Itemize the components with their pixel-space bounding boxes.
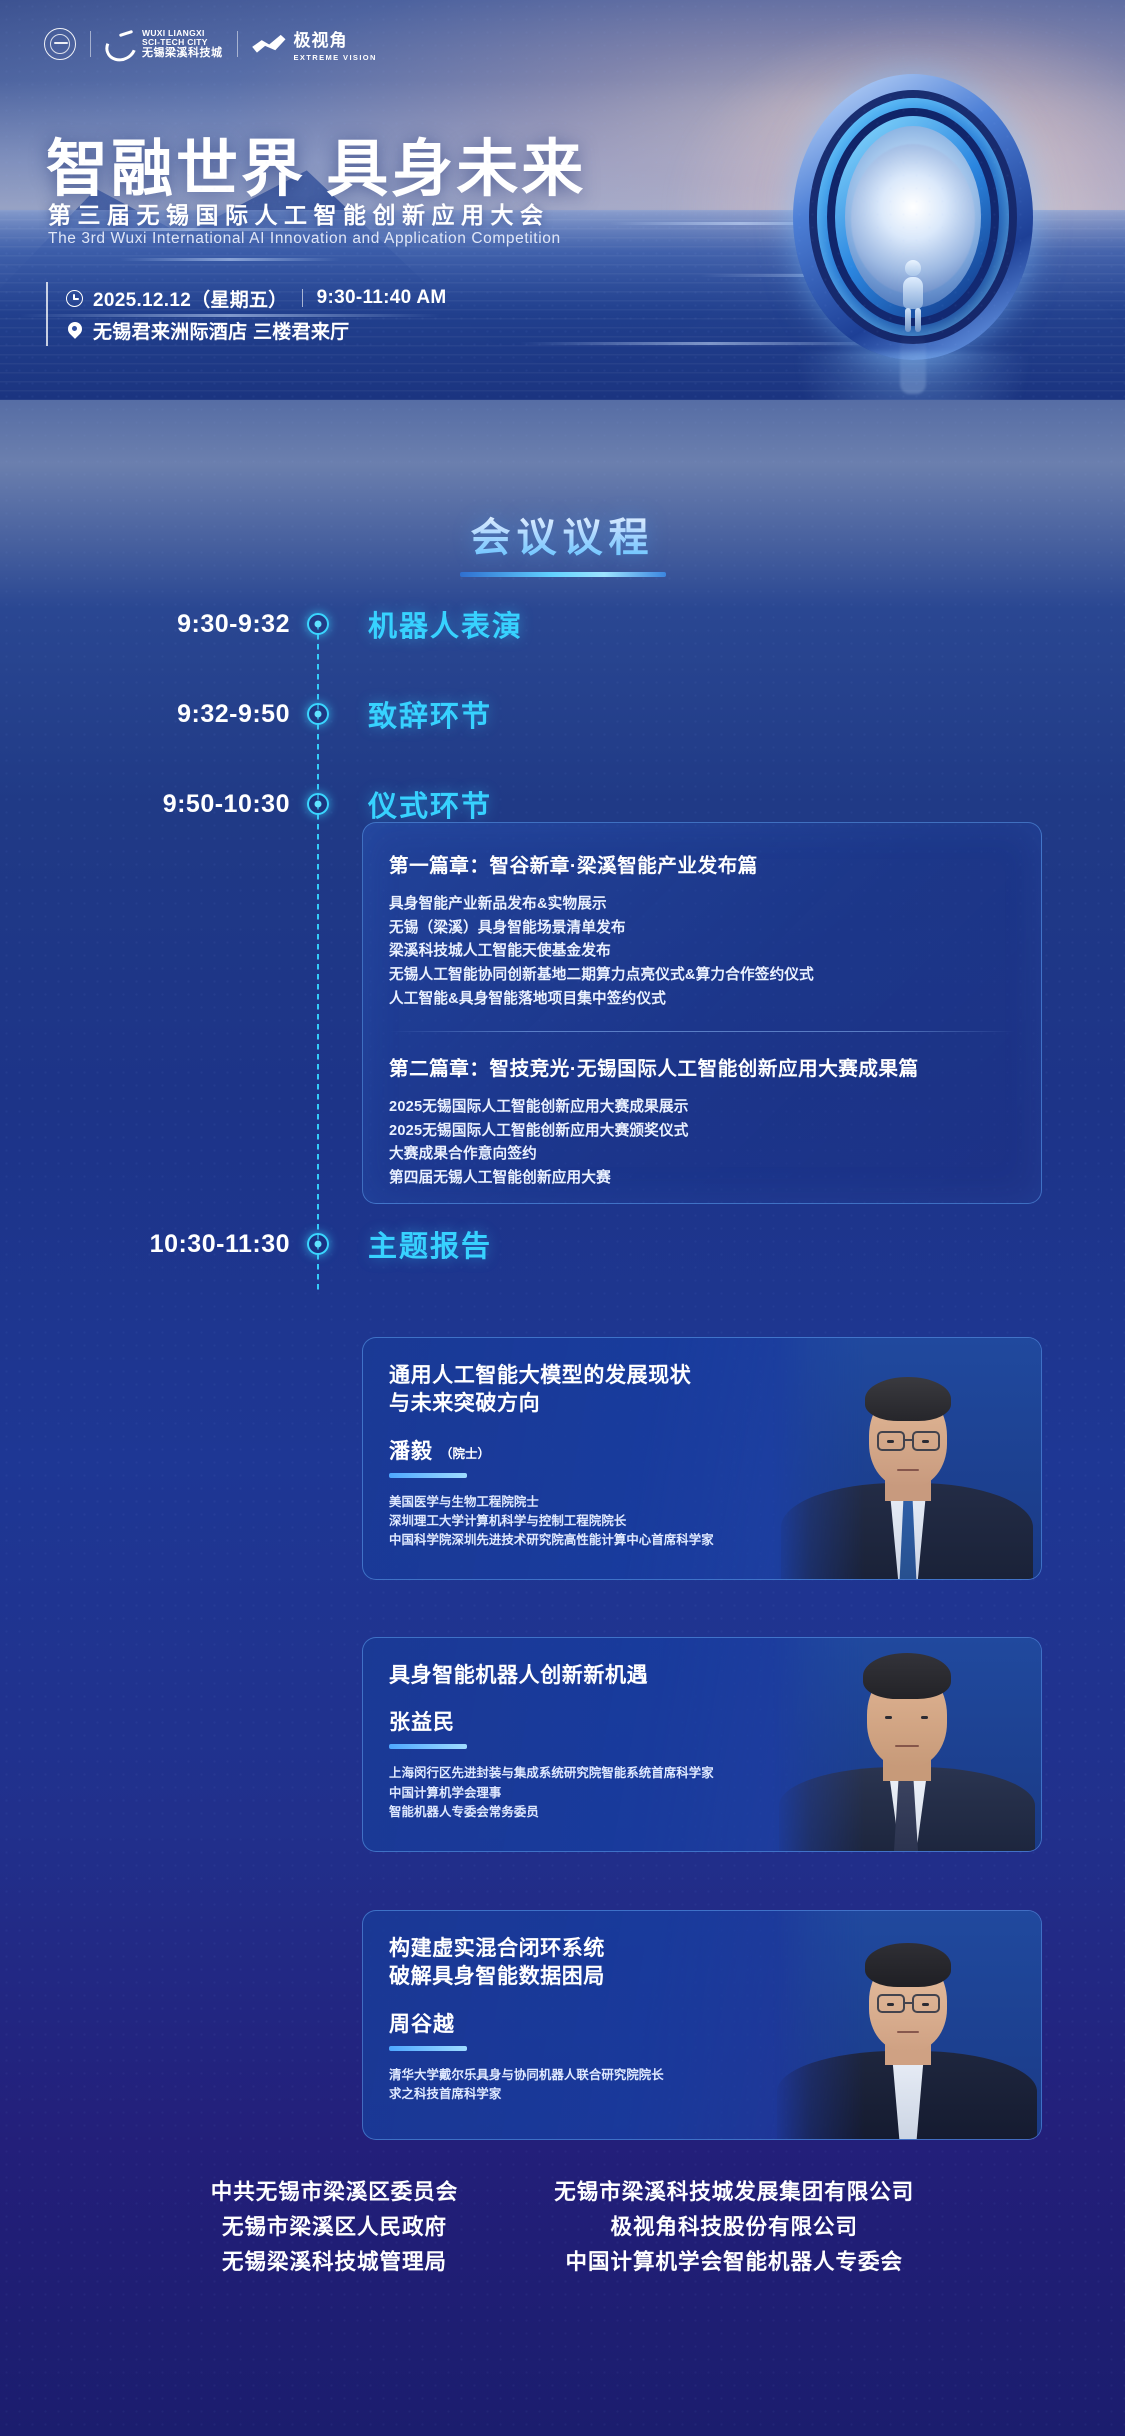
list-item: 无锡（梁溪）具身智能场景清单发布: [389, 917, 1015, 941]
extreme-vision-logo: 极视角 EXTREME VISION: [252, 26, 377, 62]
talk-title-2: 具身智能机器人创新新机遇: [389, 1662, 1015, 1690]
talk-card-1: 通用人工智能大模型的发展现状 与未来突破方向 潘毅（院士） 美国医学与生物工程院…: [362, 1337, 1042, 1580]
list-item: 无锡市梁溪科技城发展集团有限公司: [554, 2175, 914, 2210]
event-meta: 2025.12.12（星期五） 9:30-11:40 AM 无锡君来洲际酒店 三…: [46, 282, 447, 346]
clock-icon: [66, 290, 83, 307]
list-item: 2025无锡国际人工智能创新应用大赛成果展示: [389, 1096, 1015, 1120]
speaker-name-underline-1: [389, 1473, 467, 1478]
list-item: 2025无锡国际人工智能创新应用大赛颁奖仪式: [389, 1120, 1015, 1144]
hero-banner: WUXI LIANGXI SCI-TECH CITY 无锡梁溪科技城 极视角 E…: [0, 0, 1125, 400]
list-item: 深圳理工大学计算机科学与控制工程院院长: [389, 1512, 1015, 1531]
organizer-column-right: 无锡市梁溪科技城发展集团有限公司 极视角科技股份有限公司 中国计算机学会智能机器…: [554, 2175, 914, 2279]
timeline-row-3: 9:50-10:30 仪式环节: [0, 780, 1125, 828]
talk-speaker-2: 张益民: [389, 1706, 1015, 1736]
event-venue: 无锡君来洲际酒店 三楼君来厅: [93, 317, 349, 344]
chapter-2-list: 2025无锡国际人工智能创新应用大赛成果展示 2025无锡国际人工智能创新应用大…: [389, 1096, 1015, 1191]
talk-card-2: 具身智能机器人创新新机遇 张益民 上海闵行区先进封装与集成系统研究院智能系统首席…: [362, 1637, 1042, 1852]
speaker-name-3: 周谷越: [389, 2013, 455, 2036]
talk-body-1: 通用人工智能大模型的发展现状 与未来突破方向 潘毅（院士） 美国医学与生物工程院…: [363, 1338, 1041, 1572]
timeline-time-3: 9:50-10:30: [0, 790, 290, 819]
timeline-row-keynote: 10:30-11:30 主题报告: [0, 1220, 1125, 1268]
logo-divider-2: [237, 31, 238, 57]
list-item: 清华大学戴尔乐具身与协同机器人联合研究院院长: [389, 2066, 1015, 2085]
swoosh-icon: [105, 31, 135, 57]
extreme-vision-cn: 极视角: [294, 26, 377, 51]
list-item: 求之科技首席科学家: [389, 2085, 1015, 2104]
agenda-title-block: 会议议程: [0, 505, 1125, 577]
list-item: 美国医学与生物工程院院士: [389, 1493, 1015, 1512]
list-item: 无锡梁溪科技城管理局: [211, 2245, 459, 2280]
speaker-suffix-1: （院士）: [440, 1447, 490, 1461]
logo-strip: WUXI LIANGXI SCI-TECH CITY 无锡梁溪科技城 极视角 E…: [44, 26, 377, 62]
footer-organizations: 中共无锡市梁溪区委员会 无锡市梁溪区人民政府 无锡梁溪科技城管理局 无锡市梁溪科…: [0, 2175, 1125, 2279]
timeline-row-1: 9:30-9:32 机器人表演: [0, 600, 1125, 648]
speaker-bio-3: 清华大学戴尔乐具身与协同机器人联合研究院院长 求之科技首席科学家: [389, 2066, 1015, 2104]
hero-subtitle-en: The 3rd Wuxi International AI Innovation…: [48, 230, 561, 248]
speaker-name-1: 潘毅: [389, 1440, 433, 1463]
conference-poster: WUXI LIANGXI SCI-TECH CITY 无锡梁溪科技城 极视角 E…: [0, 0, 1125, 2436]
humanoid-robot-icon: [900, 260, 926, 332]
logo-cn-name: 无锡梁溪科技城: [142, 48, 223, 60]
speaker-name-underline-3: [389, 2046, 467, 2051]
chapter-1-heading: 第一篇章：智谷新章·梁溪智能产业发布篇: [389, 849, 1015, 878]
organizer-column-left: 中共无锡市梁溪区委员会 无锡市梁溪区人民政府 无锡梁溪科技城管理局: [211, 2175, 459, 2279]
event-venue-row: 无锡君来洲际酒店 三楼君来厅: [66, 314, 447, 346]
list-item: 中国计算机学会智能机器人专委会: [554, 2245, 914, 2280]
list-item: 极视角科技股份有限公司: [554, 2210, 914, 2245]
list-item: 中国科学院深圳先进技术研究院高性能计算中心首席科学家: [389, 1531, 1015, 1550]
list-item: 大赛成果合作意向签约: [389, 1143, 1015, 1167]
meta-separator: [302, 289, 303, 307]
extreme-vision-en: EXTREME VISION: [294, 53, 377, 62]
event-time: 9:30-11:40 AM: [317, 287, 447, 309]
list-item: 智能机器人专委会常务委员: [389, 1803, 1015, 1822]
wuxi-scitech-city-logo: WUXI LIANGXI SCI-TECH CITY 无锡梁溪科技城: [105, 29, 223, 59]
list-item: 无锡人工智能协同创新基地二期算力点亮仪式&算力合作签约仪式: [389, 964, 1015, 988]
talk-speaker-1: 潘毅（院士）: [389, 1435, 1015, 1465]
speaker-bio-1: 美国医学与生物工程院院士 深圳理工大学计算机科学与控制工程院院长 中国科学院深圳…: [389, 1493, 1015, 1551]
hero-headline: 智融世界 具身未来: [46, 118, 586, 208]
timeline-node-icon-3: [307, 793, 329, 815]
speaker-bio-2: 上海闵行区先进封装与集成系统研究院智能系统首席科学家 中国计算机学会理事 智能机…: [389, 1764, 1015, 1822]
agenda-detail-panel: 第一篇章：智谷新章·梁溪智能产业发布篇 具身智能产业新品发布&实物展示 无锡（梁…: [362, 822, 1042, 1204]
location-pin-icon: [66, 322, 83, 339]
chapter-2-heading: 第二篇章：智技竞光·无锡国际人工智能创新应用大赛成果篇: [389, 1052, 1015, 1081]
timeline-node-icon-1: [307, 613, 329, 635]
timeline-label-2: 致辞环节: [368, 693, 492, 735]
list-item: 上海闵行区先进封装与集成系统研究院智能系统首席科学家: [389, 1764, 1015, 1783]
talk-body-2: 具身智能机器人创新新机遇 张益民 上海闵行区先进封装与集成系统研究院智能系统首席…: [363, 1638, 1041, 1844]
chapter-1-list: 具身智能产业新品发布&实物展示 无锡（梁溪）具身智能场景清单发布 梁溪科技城人工…: [389, 893, 1015, 1011]
logo-divider: [90, 31, 91, 57]
list-item: 具身智能产业新品发布&实物展示: [389, 893, 1015, 917]
speaker-name-underline-2: [389, 1744, 467, 1749]
talk-speaker-3: 周谷越: [389, 2008, 1015, 2038]
wuxi-liangxi-seal-icon: [44, 28, 76, 60]
timeline-time-2: 9:32-9:50: [0, 700, 290, 729]
logo-en-line2: SCI-TECH CITY: [142, 38, 223, 47]
speaker-name-2: 张益民: [389, 1711, 455, 1734]
list-item: 第四届无锡人工智能创新应用大赛: [389, 1167, 1015, 1191]
keynote-label: 主题报告: [368, 1223, 492, 1265]
talk-title-3: 构建虚实混合闭环系统 破解具身智能数据困局: [389, 1935, 1015, 1992]
talk-title-1: 通用人工智能大模型的发展现状 与未来突破方向: [389, 1362, 1015, 1419]
timeline-label-1: 机器人表演: [368, 603, 523, 645]
timeline-node-icon-keynote: [307, 1233, 329, 1255]
event-date: 2025.12.12（星期五）: [93, 285, 288, 312]
talk-body-3: 构建虚实混合闭环系统 破解具身智能数据困局 周谷越 清华大学戴尔乐具身与协同机器…: [363, 1911, 1041, 2126]
chapter-divider: [389, 1031, 1015, 1032]
list-item: 人工智能&具身智能落地项目集中签约仪式: [389, 988, 1015, 1012]
portal-ring-reflection: [793, 352, 1033, 400]
event-datetime-row: 2025.12.12（星期五） 9:30-11:40 AM: [66, 282, 447, 314]
portal-ring-graphic: [793, 74, 1033, 360]
timeline-node-icon-2: [307, 703, 329, 725]
agenda-title-underline: [460, 572, 666, 577]
list-item: 梁溪科技城人工智能天使基金发布: [389, 940, 1015, 964]
timeline-time-1: 9:30-9:32: [0, 610, 290, 639]
talk-card-3: 构建虚实混合闭环系统 破解具身智能数据困局 周谷越 清华大学戴尔乐具身与协同机器…: [362, 1910, 1042, 2140]
keynote-time: 10:30-11:30: [0, 1230, 290, 1259]
agenda-title: 会议议程: [471, 505, 655, 563]
timeline-row-2: 9:32-9:50 致辞环节: [0, 690, 1125, 738]
extreme-vision-mark-icon: [252, 32, 286, 56]
list-item: 中共无锡市梁溪区委员会: [211, 2175, 459, 2210]
list-item: 无锡市梁溪区人民政府: [211, 2210, 459, 2245]
list-item: 中国计算机学会理事: [389, 1784, 1015, 1803]
hero-subtitle-cn: 第三届无锡国际人工智能创新应用大会: [48, 196, 550, 230]
timeline-label-3: 仪式环节: [368, 783, 492, 825]
